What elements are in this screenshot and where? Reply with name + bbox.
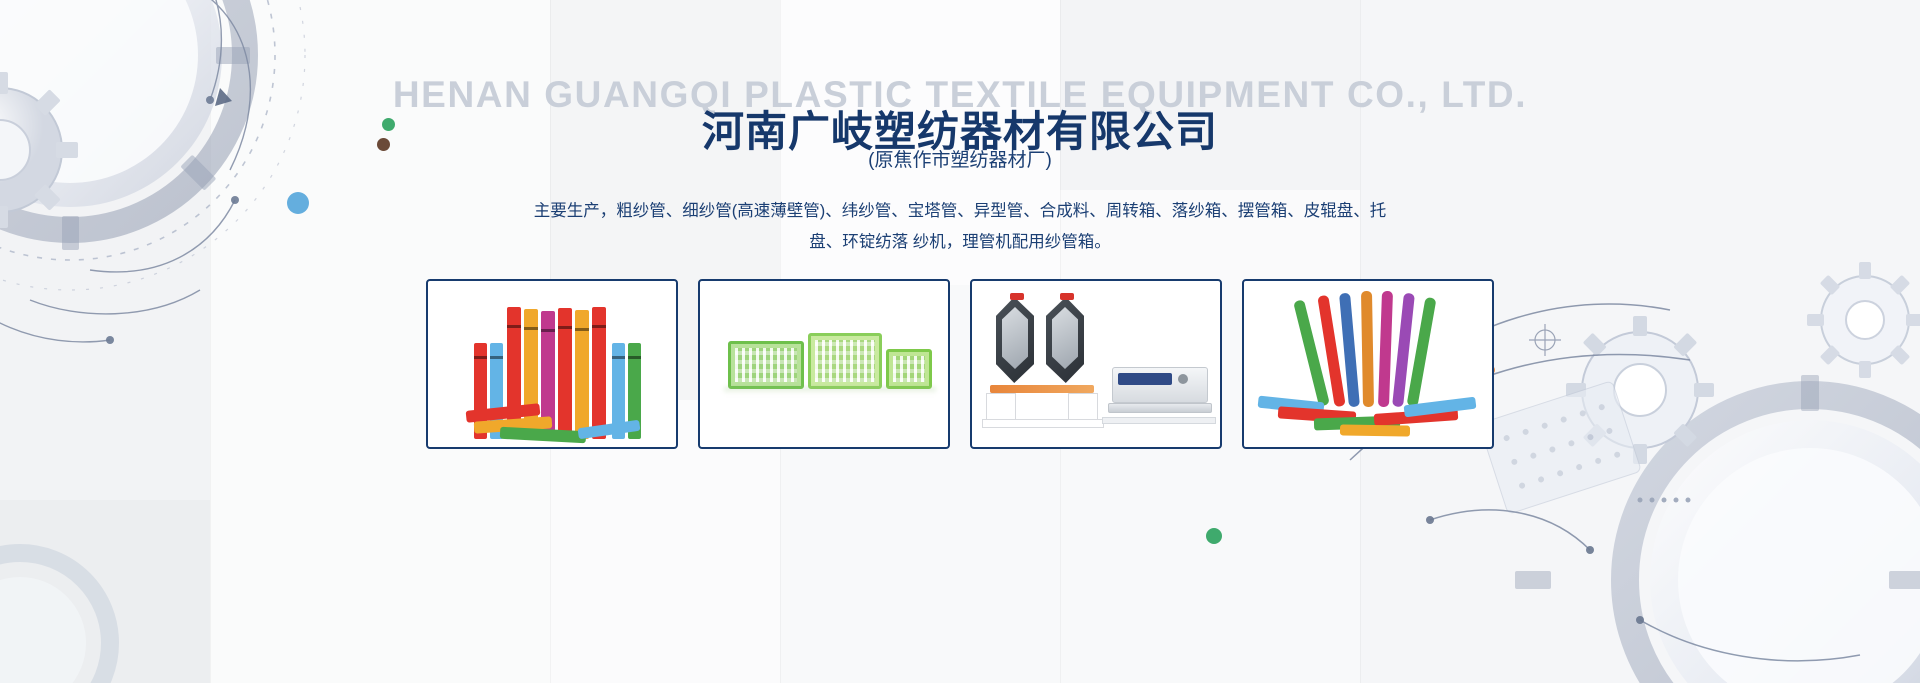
product-card-bobbin-tubes[interactable] xyxy=(426,279,678,449)
banner-content: HENAN GUANGQI PLASTIC TEXTILE EQUIPMENT … xyxy=(0,0,1920,683)
bobbin-tubes-image xyxy=(428,281,676,447)
product-card-machine[interactable] xyxy=(970,279,1222,449)
product-card-tapered-tubes[interactable] xyxy=(1242,279,1494,449)
product-description: 主要生产，粗纱管、细纱管(高速薄壁管)、纬纱管、宝塔管、异型管、合成料、周转箱、… xyxy=(520,196,1400,258)
machine-image xyxy=(972,281,1220,447)
product-description-line-2: 纱机，理管机配用纱管箱。 xyxy=(913,233,1111,251)
product-card-list xyxy=(426,279,1494,449)
tapered-tubes-image xyxy=(1244,281,1492,447)
former-company-name: (原焦作市塑纺器材厂) xyxy=(0,145,1920,172)
product-card-plastic-crates[interactable] xyxy=(698,279,950,449)
plastic-crates-image xyxy=(700,281,948,447)
